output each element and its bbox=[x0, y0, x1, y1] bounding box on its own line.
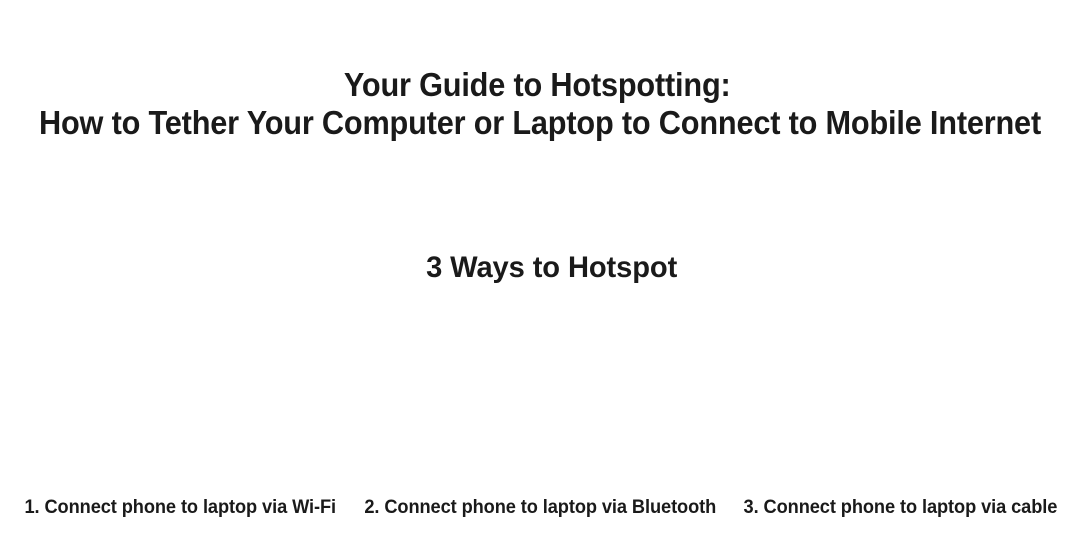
method-caption-2: 2. Connect phone to laptop via Bluetooth bbox=[364, 496, 716, 520]
methods-row: 1. Connect phone to laptop via Wi-Fi 2. … bbox=[0, 280, 1080, 520]
page-title-line-2: How to Tether Your Computer or Laptop to… bbox=[38, 104, 1042, 142]
method-caption-1: 1. Connect phone to laptop via Wi-Fi bbox=[24, 496, 336, 520]
method-item-2: 2. Connect phone to laptop via Bluetooth bbox=[370, 280, 710, 520]
page-title: Your Guide to Hotspotting: How to Tether… bbox=[38, 66, 1042, 142]
page-title-line-1: Your Guide to Hotspotting: bbox=[38, 66, 1042, 104]
method-caption-3: 3. Connect phone to laptop via cable bbox=[743, 496, 1057, 520]
method-item-1: 1. Connect phone to laptop via Wi-Fi bbox=[10, 280, 350, 520]
article-page: Your Guide to Hotspotting: How to Tether… bbox=[0, 0, 1080, 552]
wifi-tether-illustration bbox=[30, 306, 330, 492]
method-item-3: 3. Connect phone to laptop via cable bbox=[730, 280, 1070, 520]
cable-tether-illustration bbox=[750, 306, 1050, 492]
bluetooth-tether-illustration bbox=[390, 306, 690, 492]
